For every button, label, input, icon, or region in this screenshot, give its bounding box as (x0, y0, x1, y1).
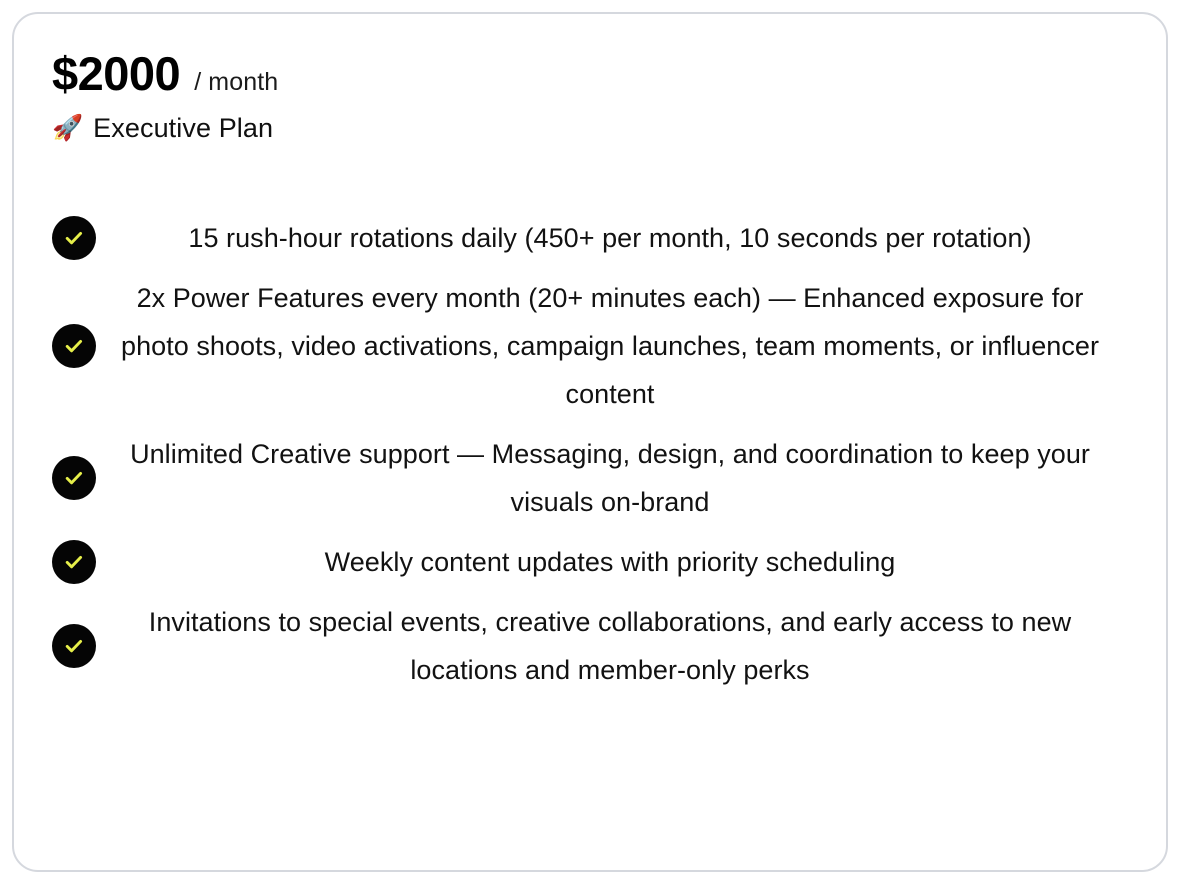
pricing-card: $2000 / month 🚀 Executive Plan 15 rush-h… (12, 12, 1168, 872)
check-circle-icon (52, 456, 96, 500)
check-circle-icon (52, 624, 96, 668)
check-circle-icon (52, 324, 96, 368)
feature-label: Weekly content updates with priority sch… (112, 538, 1126, 586)
plan-row: 🚀 Executive Plan (52, 115, 1126, 142)
feature-label: 15 rush-hour rotations daily (450+ per m… (112, 214, 1126, 262)
check-circle-icon (52, 540, 96, 584)
pricing-card-body: $2000 / month 🚀 Executive Plan 15 rush-h… (14, 14, 1166, 870)
plan-name: Executive Plan (93, 115, 273, 142)
price-row: $2000 / month (52, 50, 1126, 97)
feature-list: 15 rush-hour rotations daily (450+ per m… (52, 208, 1126, 700)
feature-label: 2x Power Features every month (20+ minut… (112, 274, 1126, 418)
feature-item: 15 rush-hour rotations daily (450+ per m… (52, 208, 1126, 268)
feature-item: Invitations to special events, creative … (52, 592, 1126, 700)
rocket-icon: 🚀 (52, 116, 83, 141)
price-amount: $2000 (52, 50, 180, 97)
feature-label: Unlimited Creative support — Messaging, … (112, 430, 1126, 526)
feature-item: Weekly content updates with priority sch… (52, 532, 1126, 592)
feature-item: 2x Power Features every month (20+ minut… (52, 268, 1126, 424)
price-period: / month (194, 70, 278, 95)
check-circle-icon (52, 216, 96, 260)
feature-item: Unlimited Creative support — Messaging, … (52, 424, 1126, 532)
feature-label: Invitations to special events, creative … (112, 598, 1126, 694)
